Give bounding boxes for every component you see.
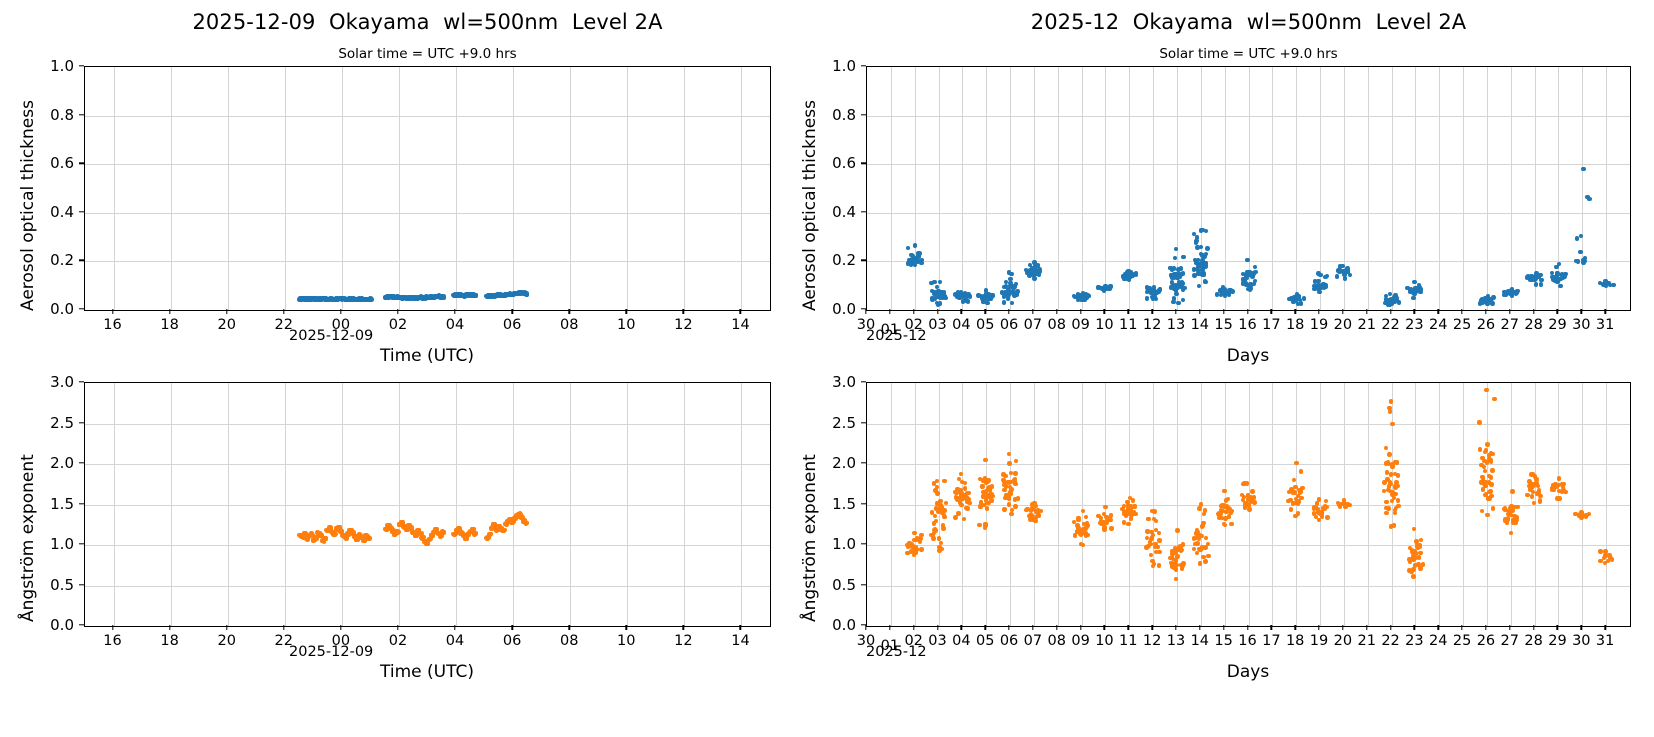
ytick-label: 0.5: [808, 576, 856, 594]
ytick-mark: [861, 260, 866, 261]
xtick-label: 16: [103, 317, 121, 333]
gridline-vertical: [1082, 67, 1083, 310]
data-point: [1557, 262, 1561, 266]
gridline-vertical: [1058, 67, 1059, 310]
xtick-label: 06: [503, 633, 521, 649]
data-point: [1610, 557, 1614, 561]
xtick-label: 14: [731, 633, 749, 649]
xtick-mark: [1318, 309, 1319, 314]
data-point: [938, 280, 942, 284]
data-point: [1122, 520, 1126, 524]
ytick-mark: [79, 260, 84, 261]
xtick-label: 00: [332, 317, 350, 333]
xtick-mark: [1104, 625, 1105, 630]
xtick-mark: [1318, 625, 1319, 630]
xtick-mark: [454, 309, 455, 314]
data-point: [1253, 279, 1257, 283]
xtick-mark: [1151, 309, 1152, 314]
xtick-mark: [283, 625, 284, 630]
xtick-mark: [1485, 625, 1486, 630]
data-point: [1534, 282, 1538, 286]
xtick-mark: [1128, 625, 1129, 630]
ytick-mark: [79, 162, 84, 163]
ytick-mark: [79, 422, 84, 423]
gridline-vertical: [285, 383, 286, 626]
data-point: [953, 515, 957, 519]
data-point: [1485, 302, 1489, 306]
ytick-label: 1.0: [808, 535, 856, 553]
data-point: [980, 484, 984, 488]
xtick-label: 04: [952, 633, 970, 649]
gridline-vertical: [962, 67, 963, 310]
data-point: [1032, 260, 1036, 264]
data-point: [912, 553, 916, 557]
ytick-label: 3.0: [26, 373, 74, 391]
data-point: [959, 290, 963, 294]
gridline-horizontal: [85, 464, 770, 465]
data-point: [1108, 285, 1112, 289]
xtick-mark: [740, 625, 741, 630]
data-point: [1033, 519, 1037, 523]
data-point: [1127, 277, 1131, 281]
ytick-mark: [79, 543, 84, 544]
xtick-mark: [340, 309, 341, 314]
data-point: [963, 481, 967, 485]
xtick-label: 19: [1310, 633, 1328, 649]
xtick-label: 31: [1596, 633, 1614, 649]
data-point: [1421, 562, 1425, 566]
data-point: [1563, 272, 1567, 276]
data-point: [1556, 497, 1560, 501]
xtick-mark: [1080, 309, 1081, 314]
ytick-label: 0.2: [26, 251, 74, 269]
ytick-label: 0.4: [26, 203, 74, 221]
data-point: [367, 536, 372, 541]
data-point: [1205, 246, 1209, 250]
xtick-label: 22: [275, 633, 293, 649]
data-point: [1102, 527, 1106, 531]
data-point: [1576, 259, 1580, 263]
data-point: [985, 506, 989, 510]
xtick-label: 22: [1381, 633, 1399, 649]
xtick-label: 16: [1238, 317, 1256, 333]
data-point: [1396, 473, 1400, 477]
data-point: [1347, 503, 1351, 507]
data-point: [1604, 284, 1608, 288]
xlabel-daily-aot: Time (UTC): [380, 346, 474, 366]
plot-area-daily-aot[interactable]: [84, 66, 771, 311]
data-point: [1227, 514, 1231, 518]
data-point: [1478, 447, 1482, 451]
data-point: [1587, 512, 1591, 516]
data-point: [1324, 275, 1328, 279]
ytick-label: 0.0: [808, 300, 856, 318]
data-point: [1194, 239, 1198, 243]
data-point: [1013, 471, 1017, 475]
data-point: [962, 517, 966, 521]
xtick-label: 30: [1572, 633, 1590, 649]
data-point: [936, 303, 940, 307]
data-point: [967, 491, 971, 495]
xtick-label: 30: [857, 317, 875, 333]
data-point: [369, 297, 374, 302]
data-point: [1126, 269, 1130, 273]
gridline-vertical: [1058, 383, 1059, 626]
ytick-label: 0.5: [26, 576, 74, 594]
xtick-label: 23: [1405, 633, 1423, 649]
data-point: [935, 491, 939, 495]
data-point: [1294, 461, 1298, 465]
data-point: [1387, 452, 1391, 456]
data-point: [1396, 498, 1400, 502]
data-point: [1157, 531, 1161, 535]
gridline-vertical: [1392, 383, 1393, 626]
data-point: [1157, 563, 1161, 567]
xtick-mark: [626, 309, 627, 314]
data-point: [942, 479, 946, 483]
xtick-mark: [1604, 309, 1605, 314]
data-point: [1198, 561, 1202, 565]
xtick-mark: [397, 625, 398, 630]
xtick-label: 11: [1119, 317, 1137, 333]
xtick-label: 05: [976, 633, 994, 649]
data-point: [1384, 511, 1388, 515]
xtick-mark: [569, 309, 570, 314]
data-point: [1013, 504, 1017, 508]
data-point: [1032, 501, 1036, 505]
plot-area-monthly-aot[interactable]: [866, 66, 1631, 311]
gridline-vertical: [513, 383, 514, 626]
data-point: [1514, 515, 1518, 519]
ytick-label: 1.5: [808, 495, 856, 513]
gridline-vertical: [1606, 67, 1607, 310]
gridline-vertical: [915, 67, 916, 310]
data-point: [1197, 506, 1201, 510]
gridline-vertical: [342, 67, 343, 310]
data-point: [944, 501, 948, 505]
gridline-horizontal: [85, 116, 770, 117]
xtick-label: 25: [1453, 317, 1471, 333]
data-point: [1390, 465, 1394, 469]
data-point: [1199, 245, 1203, 249]
data-point: [990, 484, 994, 488]
xtick-label: 02: [904, 317, 922, 333]
xtick-label: 08: [560, 633, 578, 649]
data-point: [1181, 271, 1185, 275]
xtick-mark: [1104, 309, 1105, 314]
data-point: [1073, 533, 1077, 537]
gridline-vertical: [1415, 67, 1416, 310]
gridline-horizontal: [85, 164, 770, 165]
xtick-mark: [1294, 625, 1295, 630]
data-point: [1010, 301, 1014, 305]
data-point: [1223, 523, 1227, 527]
xtick-mark: [1175, 625, 1176, 630]
data-point: [1293, 514, 1297, 518]
data-point: [1181, 298, 1185, 302]
xtick-label: 14: [731, 317, 749, 333]
data-point: [1223, 293, 1227, 297]
xtick-mark: [397, 309, 398, 314]
ytick-mark: [861, 65, 866, 66]
data-point: [1253, 270, 1257, 274]
data-point: [1491, 506, 1495, 510]
data-point: [1558, 284, 1562, 288]
data-point: [1203, 508, 1207, 512]
data-point: [1396, 504, 1400, 508]
xtick-mark: [913, 309, 914, 314]
data-point: [1157, 538, 1161, 542]
gridline-vertical: [986, 67, 987, 310]
gridline-vertical: [741, 67, 742, 310]
data-point: [1299, 469, 1303, 473]
data-point: [1171, 300, 1175, 304]
xtick-label: 12: [674, 633, 692, 649]
data-point: [1510, 489, 1514, 493]
data-point: [1489, 475, 1493, 479]
ytick-label: 2.0: [808, 454, 856, 472]
data-point: [1203, 545, 1207, 549]
data-point: [1534, 477, 1538, 481]
gridline-vertical: [1463, 67, 1464, 310]
xtick-label: 13: [1167, 317, 1185, 333]
data-point: [488, 532, 493, 537]
gridline-vertical: [1392, 67, 1393, 310]
data-point: [1488, 458, 1492, 462]
xtick-mark: [683, 625, 684, 630]
xtick-mark: [889, 309, 890, 314]
ytick-mark: [79, 114, 84, 115]
ytick-mark: [79, 624, 84, 625]
xtick-label: 08: [1048, 633, 1066, 649]
gridline-vertical: [1272, 67, 1273, 310]
plot-area-monthly-angstrom[interactable]: [866, 382, 1631, 627]
data-point: [1039, 509, 1043, 513]
data-point: [966, 292, 970, 296]
xtick-mark: [1199, 309, 1200, 314]
data-point: [1155, 545, 1159, 549]
data-point: [1176, 301, 1180, 305]
ytick-label: 0.0: [26, 300, 74, 318]
ytick-mark: [79, 381, 84, 382]
xtick-mark: [511, 309, 512, 314]
ytick-mark: [861, 543, 866, 544]
xtick-mark: [1604, 625, 1605, 630]
data-point: [1179, 548, 1183, 552]
data-point: [1181, 561, 1185, 565]
gridline-vertical: [1296, 67, 1297, 310]
data-point: [396, 530, 401, 535]
gridline-vertical: [1582, 67, 1583, 310]
gridline-vertical: [1082, 383, 1083, 626]
xtick-label: 00: [332, 633, 350, 649]
data-point: [1175, 528, 1179, 532]
data-point: [1195, 541, 1199, 545]
xtick-mark: [1581, 625, 1582, 630]
data-point: [1146, 517, 1150, 521]
data-point: [1081, 509, 1085, 513]
xtick-mark: [1557, 309, 1558, 314]
xtick-mark: [937, 625, 938, 630]
gridline-horizontal: [85, 261, 770, 262]
data-point: [333, 532, 338, 537]
data-point: [1151, 564, 1155, 568]
ytick-mark: [861, 381, 866, 382]
xtick-mark: [1509, 309, 1510, 314]
gridline-vertical: [228, 67, 229, 310]
data-point: [933, 528, 937, 532]
xtick-label: 01: [881, 638, 899, 654]
gridline-vertical: [1582, 383, 1583, 626]
gridline-vertical: [1606, 383, 1607, 626]
xtick-label: 13: [1167, 633, 1185, 649]
data-point: [1539, 282, 1543, 286]
data-point: [525, 521, 530, 526]
data-point: [442, 295, 447, 300]
data-point: [1384, 500, 1388, 504]
gridline-vertical: [114, 67, 115, 310]
data-point: [474, 531, 479, 536]
data-point: [1158, 287, 1162, 291]
data-point: [1179, 266, 1183, 270]
xtick-mark: [112, 625, 113, 630]
xtick-mark: [226, 309, 227, 314]
data-point: [1248, 287, 1252, 291]
xtick-mark: [1461, 625, 1462, 630]
data-point: [1016, 496, 1020, 500]
data-point: [1081, 543, 1085, 547]
xtick-label: 16: [103, 633, 121, 649]
xtick-label: 17: [1262, 633, 1280, 649]
data-point: [1230, 289, 1234, 293]
data-point: [1557, 476, 1561, 480]
data-point: [1302, 296, 1306, 300]
data-point: [1009, 512, 1013, 516]
xtick-mark: [1533, 625, 1534, 630]
data-point: [1411, 296, 1415, 300]
gridline-vertical: [1272, 383, 1273, 626]
xtick-label: 22: [275, 317, 293, 333]
xtick-label: 29: [1548, 633, 1566, 649]
data-point: [1203, 263, 1207, 267]
xtick-mark: [1414, 625, 1415, 630]
data-point: [931, 536, 935, 540]
data-point: [966, 299, 970, 303]
ytick-label: 0.4: [808, 203, 856, 221]
data-point: [1203, 559, 1207, 563]
ytick-label: 2.5: [808, 414, 856, 432]
data-point: [985, 301, 989, 305]
xtick-label: 15: [1214, 317, 1232, 333]
xtick-label: 10: [1095, 633, 1113, 649]
xtick-label: 22: [1381, 317, 1399, 333]
data-point: [1126, 522, 1130, 526]
data-point: [913, 243, 917, 247]
data-point: [1181, 542, 1185, 546]
xtick-label: 06: [503, 317, 521, 333]
xtick-mark: [1342, 625, 1343, 630]
xtick-mark: [1056, 625, 1057, 630]
xtick-label: 11: [1119, 633, 1137, 649]
plot-area-daily-angstrom[interactable]: [84, 382, 771, 627]
xtick-mark: [740, 309, 741, 314]
xtick-mark: [913, 625, 914, 630]
xtick-label: 10: [617, 633, 635, 649]
xtick-mark: [1414, 309, 1415, 314]
xtick-mark: [937, 309, 938, 314]
xtick-mark: [1032, 625, 1033, 630]
data-point: [989, 492, 993, 496]
xtick-label: 08: [560, 317, 578, 333]
gridline-vertical: [1105, 67, 1106, 310]
xtick-mark: [569, 625, 570, 630]
data-point: [1598, 559, 1602, 563]
data-point: [442, 530, 447, 535]
data-point: [1611, 283, 1615, 287]
gridline-vertical: [570, 67, 571, 310]
ytick-label: 0.8: [26, 106, 74, 124]
ytick-label: 1.0: [26, 57, 74, 75]
data-point: [1397, 300, 1401, 304]
data-point: [1411, 567, 1415, 571]
data-point: [1598, 549, 1602, 553]
ytick-mark: [861, 422, 866, 423]
data-point: [1201, 521, 1205, 525]
xtick-label: 27: [1501, 633, 1519, 649]
xtick-mark: [961, 625, 962, 630]
data-point: [919, 547, 923, 551]
xtick-label: 12: [674, 317, 692, 333]
xtick-label: 06: [1000, 633, 1018, 649]
data-point: [1175, 554, 1179, 558]
xtick-label: 07: [1024, 633, 1042, 649]
xtick-mark: [1271, 625, 1272, 630]
ytick-label: 0.0: [808, 616, 856, 634]
data-point: [1485, 442, 1489, 446]
data-point: [1109, 526, 1113, 530]
data-point: [1108, 518, 1112, 522]
gridline-vertical: [1368, 383, 1369, 626]
ytick-mark: [861, 211, 866, 212]
data-point: [1317, 497, 1321, 501]
data-point: [1247, 507, 1251, 511]
gridline-vertical: [1177, 383, 1178, 626]
gridline-vertical: [171, 383, 172, 626]
gridline-vertical: [1439, 383, 1440, 626]
data-point: [1009, 487, 1013, 491]
data-point: [1489, 482, 1493, 486]
data-point: [1531, 472, 1535, 476]
xtick-label: 12: [1143, 633, 1161, 649]
gridline-vertical: [1153, 67, 1154, 310]
xtick-label: 10: [1095, 317, 1113, 333]
ytick-mark: [861, 503, 866, 504]
xtick-mark: [340, 625, 341, 630]
data-point: [1393, 492, 1397, 496]
xtick-mark: [1581, 309, 1582, 314]
data-point: [1008, 277, 1012, 281]
data-point: [474, 293, 479, 298]
xtick-label: 05: [976, 317, 994, 333]
data-point: [1229, 522, 1233, 526]
gridline-vertical: [114, 383, 115, 626]
data-point: [1530, 494, 1534, 498]
data-point: [1515, 505, 1519, 509]
data-point: [1032, 276, 1036, 280]
data-point: [1133, 512, 1137, 516]
data-point: [1222, 489, 1226, 493]
xtick-mark: [1390, 309, 1391, 314]
